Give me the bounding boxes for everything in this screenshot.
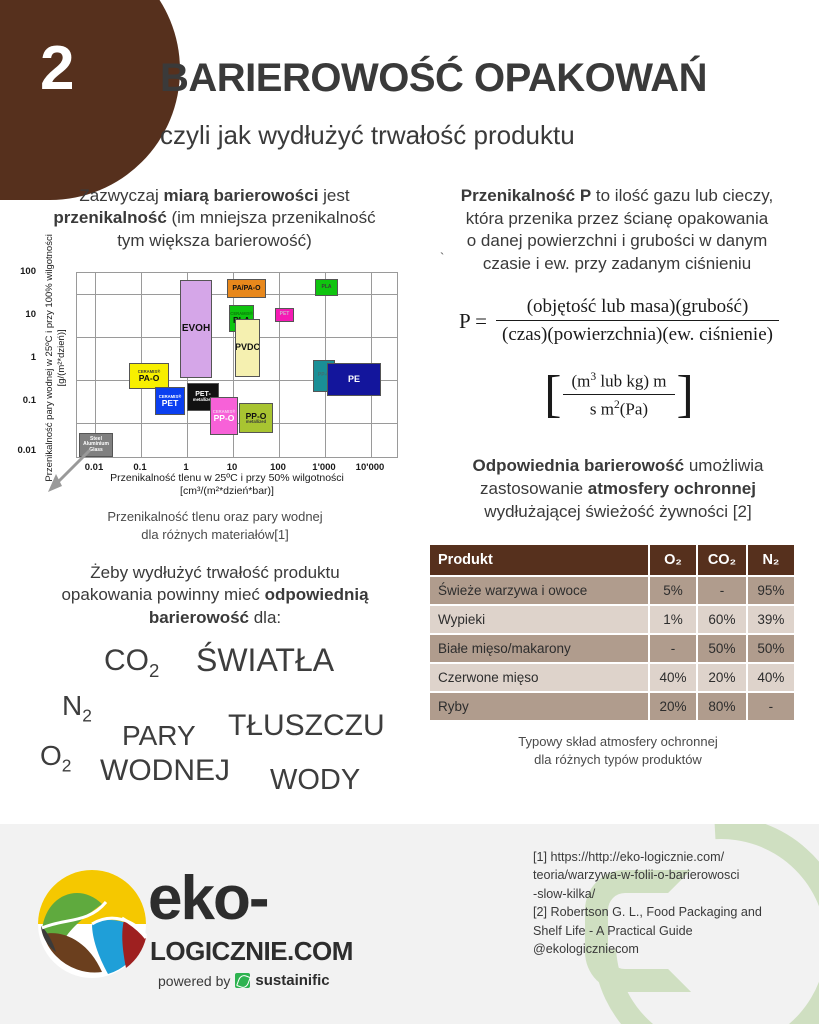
references-block: [1] https://http://eko-logicznie.com/ te… <box>533 848 803 958</box>
chart-box-pla: PLA <box>315 279 338 296</box>
intro-3: tym większa barierowość) <box>117 231 312 250</box>
table-row: Ryby 20% 80% - <box>430 693 794 720</box>
box-label-pe: PE <box>348 375 360 384</box>
cta-3a: dla: <box>249 608 281 627</box>
box-label-pa-pa-o: PA/PA-O <box>232 285 260 292</box>
x-axis-line2: [cm³/(m²*dzień*bar)] <box>180 485 274 497</box>
chart-box-pa-pa-o: PA/PA-O <box>227 279 266 298</box>
y-tick-0.01: 0.01 <box>2 445 36 456</box>
chart-box-pet: PET <box>275 308 294 322</box>
col-header-co2: CO₂ <box>698 545 746 575</box>
ref-line-5: Shelf Life - A Practical Guide <box>533 924 693 938</box>
table-caption-2: dla różnych typów produktów <box>534 752 702 767</box>
logo-domain: LOGICZNIE.COM <box>150 936 353 967</box>
col-header-n2: N₂ <box>748 545 794 575</box>
cell-n2: 39% <box>748 606 794 633</box>
ref-line-2: teoria/warzywa-w-folii-o-barierowosci <box>533 868 739 882</box>
cta-2a: opakowania powinny mieć <box>61 585 264 604</box>
chart-caption-1: Przenikalność tlenu oraz pary wodnej <box>107 509 322 524</box>
chart-box-ceramis-pp-o: CERAMIS® PP-O <box>210 397 238 435</box>
y-tick-1: 1 <box>2 352 36 363</box>
intro-2b: (im mniejsza przenikalność <box>167 208 376 227</box>
cloud-word-co2: CO2 <box>104 644 159 682</box>
cloud-word-swiatla: ŚWIATŁA <box>196 642 334 679</box>
def-1b: to ilość gazu lub cieczy, <box>591 186 773 205</box>
ref-line-1: [1] https://http://eko-logicznie.com/ <box>533 850 724 864</box>
map-3: wydłużającej świeżość żywności [2] <box>484 502 751 521</box>
sustainific-label: sustainific <box>255 972 329 989</box>
y-tick-10: 10 <box>2 309 36 320</box>
table-caption-1: Typowy skład atmosfery ochronnej <box>518 734 717 749</box>
cell-co2: 20% <box>698 664 746 691</box>
cell-n2: 50% <box>748 635 794 662</box>
cloud-word-wody: WODY <box>270 764 360 797</box>
cell-o2: 20% <box>650 693 696 720</box>
right-map-text: Odpowiednia barierowość umożliwia zastos… <box>424 455 812 524</box>
map-1b: umożliwia <box>684 456 763 475</box>
chart-plot-area: Steel Aluminium Glass CERAMIS® PA-O CERA… <box>76 272 398 458</box>
formula-lhs: P = <box>459 309 487 334</box>
header: 2 BARIEROWOŚĆ OPAKOWAŃ czyli jak wydłuży… <box>0 0 819 180</box>
ref-line-4: [2] Robertson G. L., Food Packaging and <box>533 905 762 919</box>
map-1a: Odpowiednia barierowość <box>473 456 685 475</box>
table-caption: Typowy skład atmosfery ochronnej dla róż… <box>424 733 812 768</box>
eko-logicznie-logo-icon <box>36 868 148 980</box>
box-label-pet: PET <box>280 312 290 317</box>
x-axis-line1: Przenikalność tlenu w 25ºC i przy 50% wi… <box>110 472 344 484</box>
bracket-open: [ <box>544 374 561 416</box>
cloud-word-pary: PARY <box>122 720 196 752</box>
def-1a: Przenikalność P <box>461 186 591 205</box>
cta-2b: odpowiednią <box>265 585 369 604</box>
cell-product: Czerwone mięso <box>430 664 648 691</box>
formula-numerator: (objętość lub masa)(grubość) <box>496 296 779 320</box>
table-row: Wypieki 1% 60% 39% <box>430 606 794 633</box>
table-row: Świeże warzywa i owoce 5% - 95% <box>430 577 794 604</box>
chart-box-evoh: EVOH <box>180 280 212 378</box>
units-numerator: (m3 lub kg) m <box>563 370 674 394</box>
cell-co2: 60% <box>698 606 746 633</box>
table-row: Czerwone mięso 40% 20% 40% <box>430 664 794 691</box>
box-label-pla: PLA <box>322 285 332 290</box>
gridline-v-100 <box>279 273 280 457</box>
page-title: BARIEROWOŚĆ OPAKOWAŃ <box>160 58 800 98</box>
chart-box-pe: PE <box>327 363 381 396</box>
cloud-word-n2: N2 <box>62 690 92 727</box>
cell-co2: - <box>698 577 746 604</box>
cell-n2: 40% <box>748 664 794 691</box>
box-label-pvdc: PVDC <box>235 343 260 352</box>
permeability-chart: Przenikalność pary wodnej w 25ºC i przy … <box>24 250 414 508</box>
bracket-close: ] <box>677 374 694 416</box>
def-2: która przenika przez ścianę opakowania <box>466 209 768 228</box>
gridline-v-0.01 <box>95 273 96 457</box>
ref-line-6: @ekologiczniecom <box>533 942 639 956</box>
chart-x-axis-label: Przenikalność tlenu w 25ºC i przy 50% wi… <box>52 472 402 498</box>
section-number: 2 <box>40 38 73 100</box>
cell-n2: 95% <box>748 577 794 604</box>
cell-co2: 50% <box>698 635 746 662</box>
formula-fraction: (objętość lub masa)(grubość) (czas)(powi… <box>496 296 779 346</box>
intro-1b: miarą barierowości <box>163 186 318 205</box>
stray-tick-mark: ` <box>440 250 444 265</box>
units-denominator: s m2(Pa) <box>563 394 674 420</box>
chart-box-pvdc: PVDC <box>235 319 260 377</box>
intro-1c: jest <box>318 186 349 205</box>
y-axis-line1: Przenikalność pary wodnej w 25ºC i przy … <box>44 234 55 481</box>
intro-2a: przenikalność <box>53 208 166 227</box>
cta-3b: barierowość <box>149 608 249 627</box>
left-cta-text: Żeby wydłużyć trwałość produktu opakowan… <box>22 562 408 629</box>
page-subtitle: czyli jak wydłużyć trwałość produktu <box>160 122 800 148</box>
chart-caption-2: dla różnych materiałów[1] <box>141 527 288 542</box>
barrier-word-cloud: CO2 ŚWIATŁA N2 TŁUSZCZU PARY O2 WODNEJ W… <box>18 636 418 816</box>
permeability-units: [ (m3 lub kg) m s m2(Pa) ] <box>424 370 814 419</box>
intro-1a: Zazwyczaj <box>79 186 163 205</box>
atmosphere-composition-table: Produkt O₂ CO₂ N₂ Świeże warzywa i owoce… <box>428 543 796 722</box>
units-fraction: (m3 lub kg) m s m2(Pa) <box>563 370 674 419</box>
map-2a: zastosowanie <box>480 479 588 498</box>
footer: eko- LOGICZNIE.COM powered by sustainifi… <box>0 824 819 1024</box>
cell-o2: 1% <box>650 606 696 633</box>
logo-wordmark: eko- <box>148 870 267 927</box>
y-tick-100: 100 <box>2 266 36 277</box>
cell-product: Świeże warzywa i owoce <box>430 577 648 604</box>
left-intro-text: Zazwyczaj miarą barierowości jest przeni… <box>22 185 407 252</box>
header-brown-blob <box>0 0 180 200</box>
box-label-pp-o-ceramis: PP-O <box>214 414 235 423</box>
powered-by-line: powered by sustainific <box>158 972 388 989</box>
chart-caption: Przenikalność tlenu oraz pary wodnej dla… <box>24 508 406 543</box>
box-label-pp-o-met-2: metallized <box>246 420 266 424</box>
permeability-formula: P = (objętość lub masa)(grubość) (czas)(… <box>424 296 814 346</box>
col-header-produkt: Produkt <box>430 545 648 575</box>
cell-co2: 80% <box>698 693 746 720</box>
cell-product: Białe mięso/makarony <box>430 635 648 662</box>
table-row: Białe mięso/makarony - 50% 50% <box>430 635 794 662</box>
powered-by-label: powered by <box>158 973 230 989</box>
def-4: czasie i ew. przy zadanym ciśnieniu <box>483 254 751 273</box>
formula-denominator: (czas)(powierzchnia)(ew. ciśnienie) <box>496 320 779 346</box>
cell-o2: 40% <box>650 664 696 691</box>
chart-box-ceramis-pa-o: CERAMIS® PA-O <box>129 363 169 389</box>
box-label-evoh: EVOH <box>182 324 210 334</box>
y-tick-0.1: 0.1 <box>2 395 36 406</box>
table-header-row: Produkt O₂ CO₂ N₂ <box>430 545 794 575</box>
cloud-word-o2: O2 <box>40 740 71 777</box>
cell-product: Ryby <box>430 693 648 720</box>
infographic-page: 2 BARIEROWOŚĆ OPAKOWAŃ czyli jak wydłuży… <box>0 0 819 1024</box>
col-header-o2: O₂ <box>650 545 696 575</box>
cloud-word-tluszczu: TŁUSZCZU <box>228 709 385 743</box>
sustainific-leaf-icon <box>235 973 250 988</box>
box-label-pa-o: PA-O <box>139 374 160 383</box>
map-2b: atmosfery ochronnej <box>588 479 756 498</box>
def-3: o danej powierzchni i grubości w danym <box>467 231 768 250</box>
cta-1: Żeby wydłużyć trwałość produktu <box>90 563 339 582</box>
cloud-word-wodnej: WODNEJ <box>100 754 230 788</box>
chart-box-ceramis-pet: CERAMIS® PET <box>155 387 185 415</box>
cell-o2: 5% <box>650 577 696 604</box>
right-definition-text: Przenikalność P to ilość gazu lub cieczy… <box>424 185 810 275</box>
box-label-pet-ceramis: PET <box>162 399 179 408</box>
cell-n2: - <box>748 693 794 720</box>
cell-o2: - <box>650 635 696 662</box>
ref-line-3: -slow-kilka/ <box>533 887 595 901</box>
chart-box-pp-o-metallized: PP-O metallized <box>239 403 273 433</box>
y-axis-line2: [g/(m²*dzień)] <box>56 329 67 386</box>
cell-product: Wypieki <box>430 606 648 633</box>
